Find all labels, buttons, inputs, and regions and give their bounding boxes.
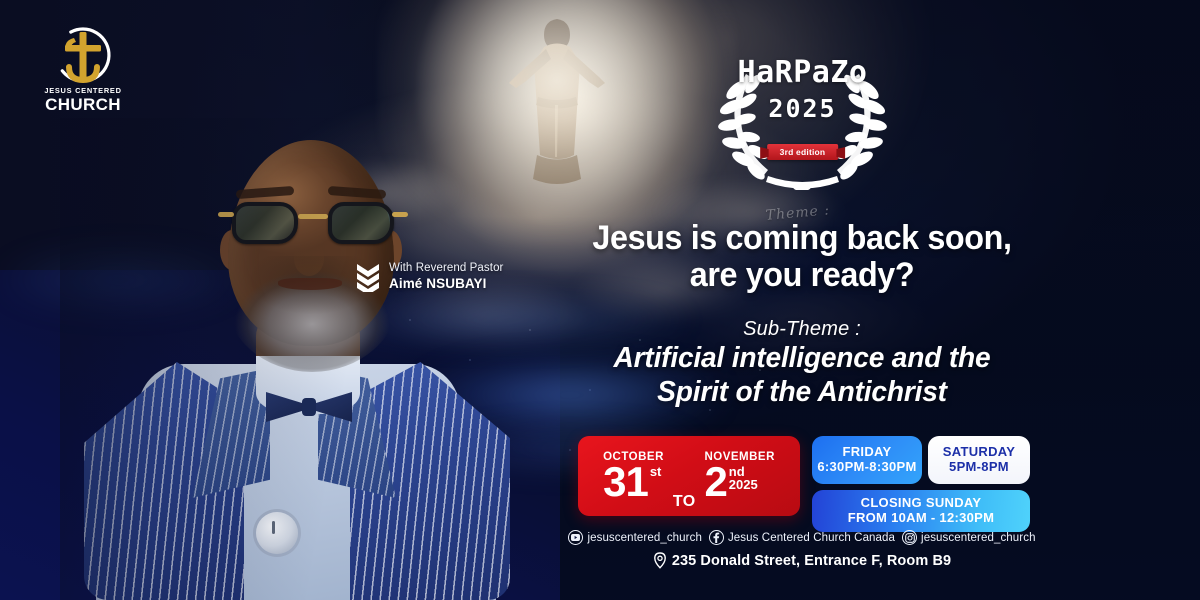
pastor-portrait xyxy=(60,118,530,600)
facebook-icon xyxy=(709,530,724,545)
friday-day: FRIDAY xyxy=(843,445,892,460)
sunday-time: FROM 10AM - 12:30PM xyxy=(848,511,995,526)
youtube-icon xyxy=(568,530,583,545)
portrait-glasses xyxy=(232,202,394,246)
saturday-time: 5PM-8PM xyxy=(949,460,1009,475)
end-date: NOVEMBER 2 nd 2025 xyxy=(704,452,774,501)
friday-time: 6:30PM-8:30PM xyxy=(817,460,916,475)
chevron-stack-icon xyxy=(356,262,380,292)
church-logo[interactable]: JESUS CENTERED CHURCH xyxy=(33,26,133,114)
start-ordinal: st xyxy=(650,465,662,478)
instagram-handle: jesuscentered_church xyxy=(921,532,1036,544)
edition-ribbon: 3rd edition xyxy=(767,144,839,160)
speaker-prefix: With Reverend Pastor xyxy=(389,262,504,276)
subtheme-title: Artificial intelligence and the Spirit o… xyxy=(559,342,1046,409)
headline-line-1: Jesus is coming back soon, xyxy=(567,220,1036,257)
youtube-handle: jesuscentered_church xyxy=(587,532,702,544)
date-badge: OCTOBER 31 st TO NOVEMBER 2 nd 2025 xyxy=(578,436,800,516)
schedule-pill-sunday: CLOSING SUNDAY FROM 10AM - 12:30PM xyxy=(812,490,1030,532)
social-links: jesuscentered_church Jesus Centered Chur… xyxy=(555,530,1049,545)
cross-anchor-icon xyxy=(52,26,114,84)
headline-line-2: are you ready? xyxy=(567,257,1036,294)
start-date: OCTOBER 31 st xyxy=(603,452,664,501)
location-pin-icon xyxy=(653,552,667,569)
harpazo-logo[interactable]: HaRPaZo 2025 3rd edition xyxy=(710,40,895,190)
saturday-day: SATURDAY xyxy=(943,445,1015,460)
speaker-credit: With Reverend Pastor Aimé NSUBAYI xyxy=(356,262,504,292)
portrait-wristwatch xyxy=(256,512,298,554)
social-youtube[interactable]: jesuscentered_church xyxy=(568,530,702,545)
church-logo-line2: CHURCH xyxy=(33,96,133,113)
social-instagram[interactable]: jesuscentered_church xyxy=(902,530,1036,545)
address-text: 235 Donald Street, Entrance F, Room B9 xyxy=(672,553,951,569)
subtheme-line-2: Spirit of the Antichrist xyxy=(559,376,1046,410)
sunday-day: CLOSING SUNDAY xyxy=(861,496,982,511)
harpazo-title: HaRPaZo xyxy=(710,58,895,88)
date-year: 2025 xyxy=(729,478,758,492)
event-poster: JESUS CENTERED CHURCH xyxy=(0,0,1200,600)
portrait-bowtie xyxy=(266,390,352,424)
facebook-handle: Jesus Centered Church Canada xyxy=(728,532,895,544)
venue-address: 235 Donald Street, Entrance F, Room B9 xyxy=(555,552,1049,569)
speaker-name: Aimé NSUBAYI xyxy=(389,276,504,292)
harpazo-year: 2025 xyxy=(710,96,895,121)
page-title: Jesus is coming back soon, are you ready… xyxy=(567,220,1036,293)
start-day: 31 xyxy=(603,464,648,500)
schedule-pill-saturday: SATURDAY 5PM-8PM xyxy=(928,436,1030,484)
instagram-icon xyxy=(902,530,917,545)
social-facebook[interactable]: Jesus Centered Church Canada xyxy=(709,530,895,545)
portrait-mouth xyxy=(278,278,342,290)
church-logo-line1: JESUS CENTERED xyxy=(33,87,133,94)
subtheme-line-1: Artificial intelligence and the xyxy=(559,342,1046,376)
end-day: 2 xyxy=(704,464,726,500)
subtheme-label: Sub-Theme : xyxy=(555,318,1049,341)
date-connector: TO xyxy=(673,493,696,511)
schedule-pill-friday: FRIDAY 6:30PM-8:30PM xyxy=(812,436,922,484)
portrait-nose xyxy=(294,242,324,276)
